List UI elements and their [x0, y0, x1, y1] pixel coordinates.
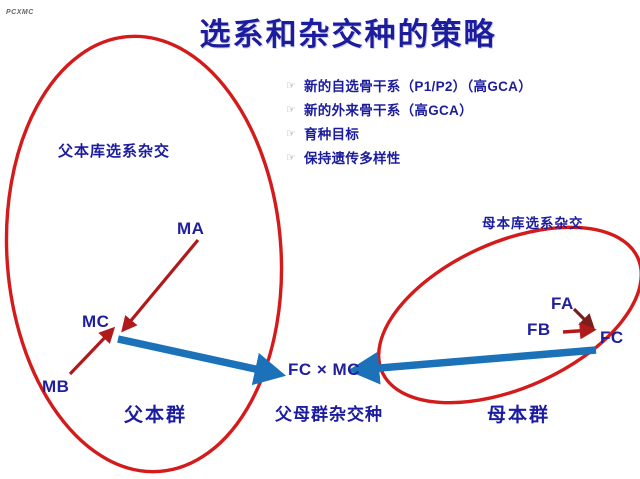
bullet-label: 育种目标: [304, 126, 359, 143]
arrow-fb-to-fc: [563, 330, 592, 332]
node-center-cross: FC × MC: [288, 360, 360, 380]
pointing-hand-icon: ☞: [286, 150, 304, 167]
list-item: ☞ 新的自选骨干系（P1/P2）（高GCA）: [286, 78, 636, 96]
watermark-logo: PCXMC: [6, 9, 34, 16]
pointing-hand-icon: ☞: [286, 126, 304, 143]
page-title: 选系和杂交种的策略: [178, 9, 518, 54]
list-item: ☞ 育种目标: [286, 126, 636, 144]
label-cross-group: 父母群杂交种: [275, 400, 383, 425]
node-mc: MC: [82, 312, 109, 332]
slide-canvas: PCXMC 选系和杂交种的策略 ☞ 新的自选骨干系（P1/P2）（高GCA） ☞…: [0, 0, 640, 479]
bullet-list: ☞ 新的自选骨干系（P1/P2）（高GCA） ☞ 新的外来骨干系（高GCA） ☞…: [286, 78, 636, 174]
label-mother-pool-cross: 母本库选系杂交: [482, 212, 584, 232]
node-fc: FC: [600, 328, 624, 348]
arrow-ma-to-mc: [124, 240, 198, 329]
node-mb: MB: [42, 377, 69, 397]
node-ma: MA: [177, 219, 204, 239]
arrow-fa-to-fc: [574, 309, 592, 327]
arrow-mb-to-mc: [70, 330, 112, 374]
list-item: ☞ 新的外来骨干系（高GCA）: [286, 102, 636, 120]
pointing-hand-icon: ☞: [286, 78, 304, 95]
list-item: ☞ 保持遗传多样性: [286, 150, 636, 168]
pointing-hand-icon: ☞: [286, 102, 304, 119]
arrow-fc-to-center: [356, 350, 596, 370]
arrow-mc-to-center: [118, 339, 278, 374]
bullet-label: 新的自选骨干系（P1/P2）（高GCA）: [304, 78, 532, 95]
bullet-label: 新的外来骨干系（高GCA）: [304, 102, 473, 119]
label-mother-group: 母本群: [487, 400, 550, 427]
label-father-group: 父本群: [124, 400, 187, 427]
bullet-label: 保持遗传多样性: [304, 150, 401, 167]
node-fb: FB: [527, 320, 551, 340]
label-father-pool-cross: 父本库选系杂交: [58, 140, 170, 161]
node-fa: FA: [551, 294, 574, 314]
